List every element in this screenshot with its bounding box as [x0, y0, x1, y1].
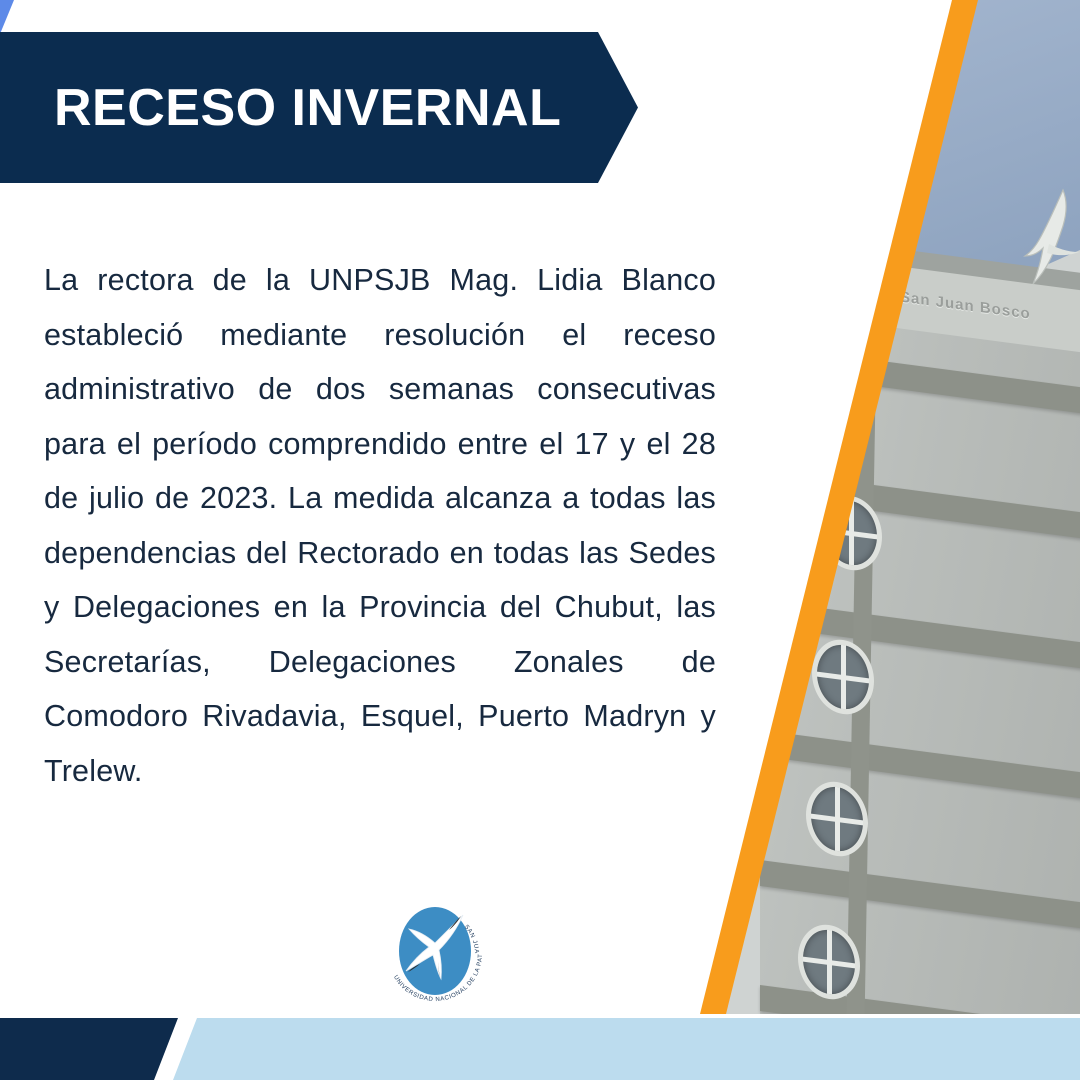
bottom-navy-bar [0, 1018, 200, 1080]
corner-accent-triangle [0, 0, 14, 34]
body-paragraph-text: La rectora de la UNPSJB Mag. Lidia Blanc… [44, 263, 716, 788]
header-banner: RECESO INVERNAL [0, 32, 638, 183]
body-paragraph: La rectora de la UNPSJB Mag. Lidia Blanc… [44, 253, 716, 798]
page-title: RECESO INVERNAL [54, 82, 561, 134]
poster-canvas: San Juan Bosco [0, 0, 1080, 1080]
unpsjb-logo: SAN JUAN BOSCO UNIVERSIDAD NACIONAL DE L… [375, 893, 495, 1015]
seagull-sculpture-icon [1005, 186, 1080, 306]
